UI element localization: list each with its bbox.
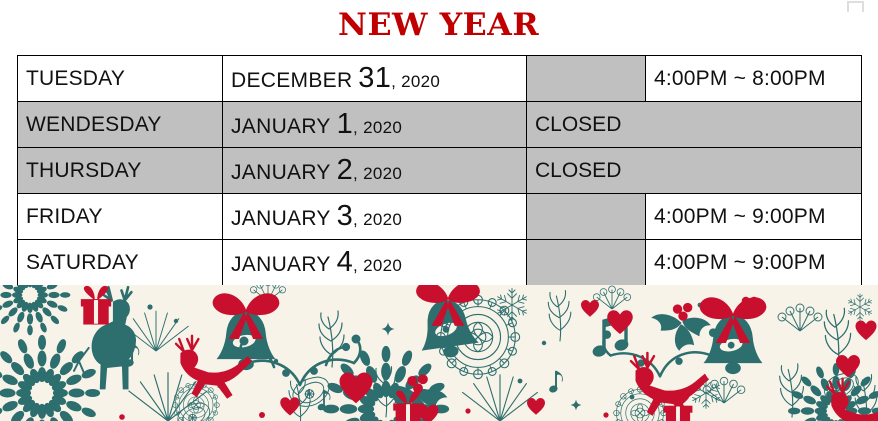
table-row: WENDESDAYJANUARY 1, 2020CLOSED xyxy=(18,102,862,148)
schedule-body: TUESDAYDECEMBER 31, 20204:00PM ~ 8:00PMW… xyxy=(18,56,862,286)
date-daynum: 1 xyxy=(337,108,353,140)
day-cell: TUESDAY xyxy=(18,56,223,102)
schedule-table: TUESDAYDECEMBER 31, 20204:00PM ~ 8:00PMW… xyxy=(17,55,862,286)
date-cell: JANUARY 2, 2020 xyxy=(223,148,527,194)
date-year: , 2020 xyxy=(353,118,402,137)
status-cell xyxy=(527,240,646,286)
day-cell: WENDESDAY xyxy=(18,102,223,148)
date-month: DECEMBER xyxy=(231,69,352,92)
day-cell: FRIDAY xyxy=(18,194,223,240)
date-year: , 2020 xyxy=(353,210,402,229)
date-cell: JANUARY 1, 2020 xyxy=(223,102,527,148)
day-cell: THURSDAY xyxy=(18,148,223,194)
hours-cell: 4:00PM ~ 9:00PM xyxy=(646,194,862,240)
date-year: , 2020 xyxy=(353,256,402,275)
table-row: FRIDAYJANUARY 3, 20204:00PM ~ 9:00PM xyxy=(18,194,862,240)
date-month: JANUARY xyxy=(231,115,331,138)
date-cell: JANUARY 4, 2020 xyxy=(223,240,527,286)
date-daynum: 4 xyxy=(337,246,353,278)
pattern-artwork xyxy=(0,285,878,421)
table-row: TUESDAYDECEMBER 31, 20204:00PM ~ 8:00PM xyxy=(18,56,862,102)
table-row: SATURDAYJANUARY 4, 20204:00PM ~ 9:00PM xyxy=(18,240,862,286)
status-cell: CLOSED xyxy=(527,148,862,194)
status-cell: CLOSED xyxy=(527,102,862,148)
date-month: JANUARY xyxy=(231,207,331,230)
date-month: JANUARY xyxy=(231,161,331,184)
date-cell: DECEMBER 31, 2020 xyxy=(223,56,527,102)
day-cell: SATURDAY xyxy=(18,240,223,286)
date-daynum: 3 xyxy=(337,200,353,232)
status-cell xyxy=(527,194,646,240)
date-cell: JANUARY 3, 2020 xyxy=(223,194,527,240)
hours-cell: 4:00PM ~ 8:00PM xyxy=(646,56,862,102)
date-daynum: 2 xyxy=(337,154,353,186)
title-bar: NEW YEAR xyxy=(0,0,878,50)
status-cell xyxy=(527,56,646,102)
hours-cell: 4:00PM ~ 9:00PM xyxy=(646,240,862,286)
table-row: THURSDAYJANUARY 2, 2020CLOSED xyxy=(18,148,862,194)
date-year: , 2020 xyxy=(391,72,440,91)
date-year: , 2020 xyxy=(353,164,402,183)
page-title: NEW YEAR xyxy=(338,10,539,41)
date-daynum: 31 xyxy=(358,62,391,94)
date-month: JANUARY xyxy=(231,253,331,276)
christmas-pattern-banner xyxy=(0,285,878,421)
